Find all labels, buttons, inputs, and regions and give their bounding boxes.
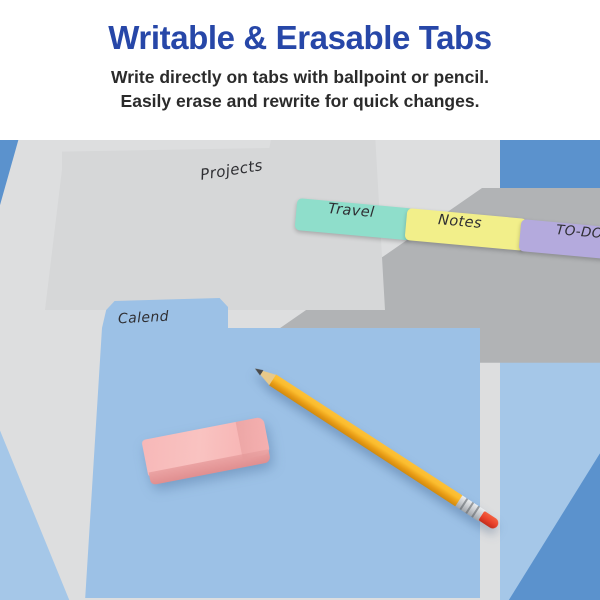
blue-divider-calendar bbox=[60, 298, 480, 598]
ferrule-ring bbox=[459, 498, 467, 510]
ferrule-ring bbox=[465, 502, 473, 514]
subtitle-line-1: Write directly on tabs with ballpoint or… bbox=[0, 66, 600, 90]
tab-label-calendar: Calend bbox=[118, 309, 170, 328]
header-text-block: Writable & Erasable Tabs Write directly … bbox=[0, 0, 600, 113]
subtitle: Write directly on tabs with ballpoint or… bbox=[0, 57, 600, 113]
subtitle-line-2: Easily erase and rewrite for quick chang… bbox=[0, 90, 600, 114]
ferrule-ring bbox=[471, 506, 479, 518]
page-title: Writable & Erasable Tabs bbox=[0, 0, 600, 57]
product-photo: Projects Travel Notes TO-DO Calend bbox=[0, 140, 600, 600]
product-feature-image: Writable & Erasable Tabs Write directly … bbox=[0, 0, 600, 600]
